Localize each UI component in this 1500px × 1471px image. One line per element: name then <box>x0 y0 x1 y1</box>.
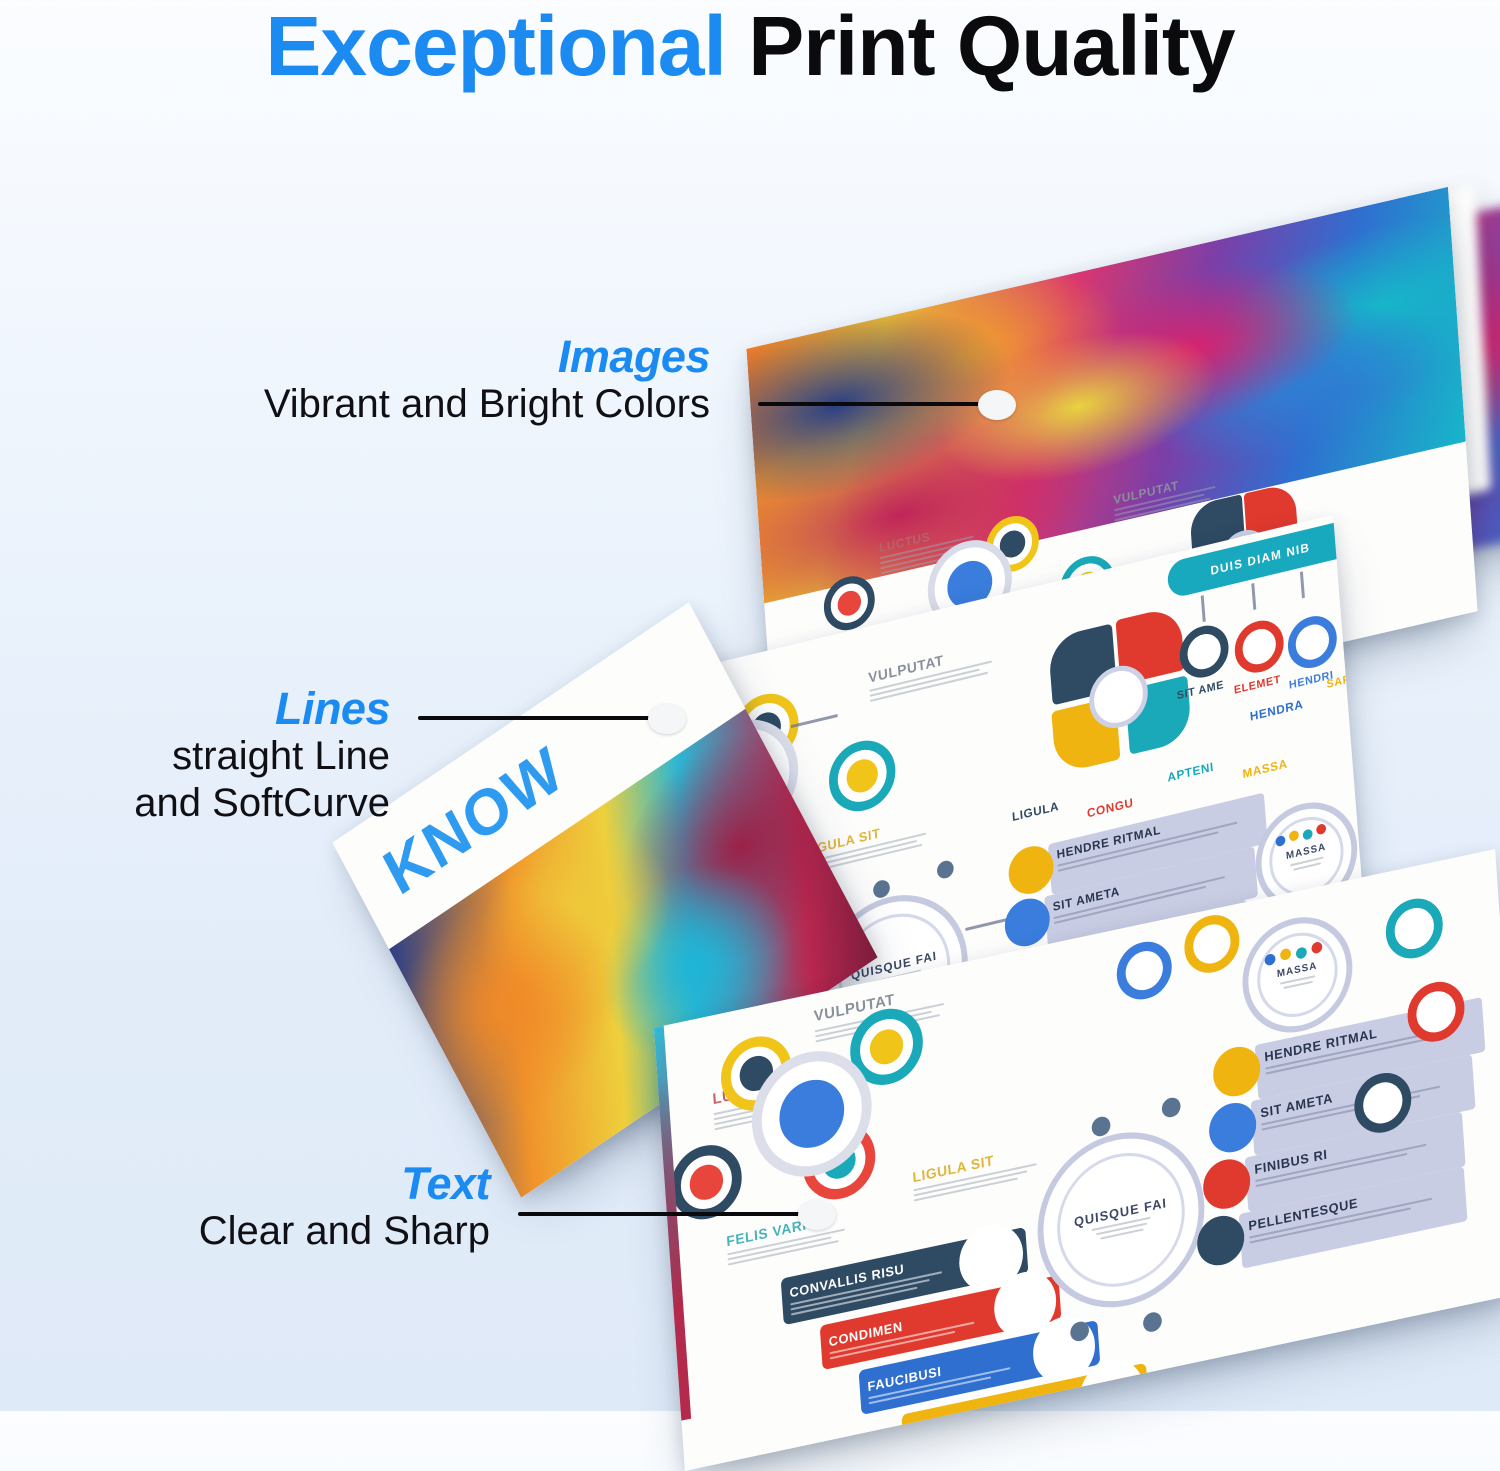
callout-text: Text Clear and Sharp <box>199 1160 490 1254</box>
donut-chart <box>1040 604 1198 790</box>
poster-stage: LUCTUS VULPUTAT FELIS VARI LIGULA SIT CO <box>0 0 1500 1411</box>
legend-congu: CONGU <box>1087 795 1134 820</box>
callout-lines: Lines straight Line and SoftCurve <box>134 685 390 826</box>
leader-dot-text <box>798 1200 836 1230</box>
legend-massa: MASSA <box>1242 756 1288 781</box>
legend-ligula: LIGULA <box>1012 799 1060 824</box>
page-title: Exceptional Print Quality <box>0 4 1500 88</box>
legend-apteni: APTENI <box>1167 759 1214 784</box>
legend-hendra: HENDRA <box>1249 697 1304 724</box>
leader-line-lines <box>418 716 658 720</box>
bag-icon <box>845 756 879 796</box>
callout-lines-title: Lines <box>134 685 390 732</box>
callout-lines-subtitle-2: and SoftCurve <box>134 781 390 826</box>
leader-dot-images <box>978 390 1016 420</box>
callout-text-subtitle: Clear and Sharp <box>199 1209 490 1254</box>
headline-blue: Exceptional <box>265 0 725 93</box>
ink-artwork-bottom <box>654 995 691 1471</box>
callout-images-title: Images <box>264 333 710 380</box>
callout-lines-subtitle-1: straight Line <box>134 734 390 779</box>
tree-elemet: ELEMET <box>1233 673 1281 696</box>
callout-images: Images Vibrant and Bright Colors <box>264 333 710 427</box>
leader-line-text <box>518 1212 808 1216</box>
callout-text-title: Text <box>199 1160 490 1207</box>
callout-images-subtitle: Vibrant and Bright Colors <box>264 382 710 427</box>
headline-dark: Print Quality <box>748 0 1234 93</box>
leader-dot-lines <box>648 704 686 734</box>
leader-line-images <box>758 402 988 406</box>
